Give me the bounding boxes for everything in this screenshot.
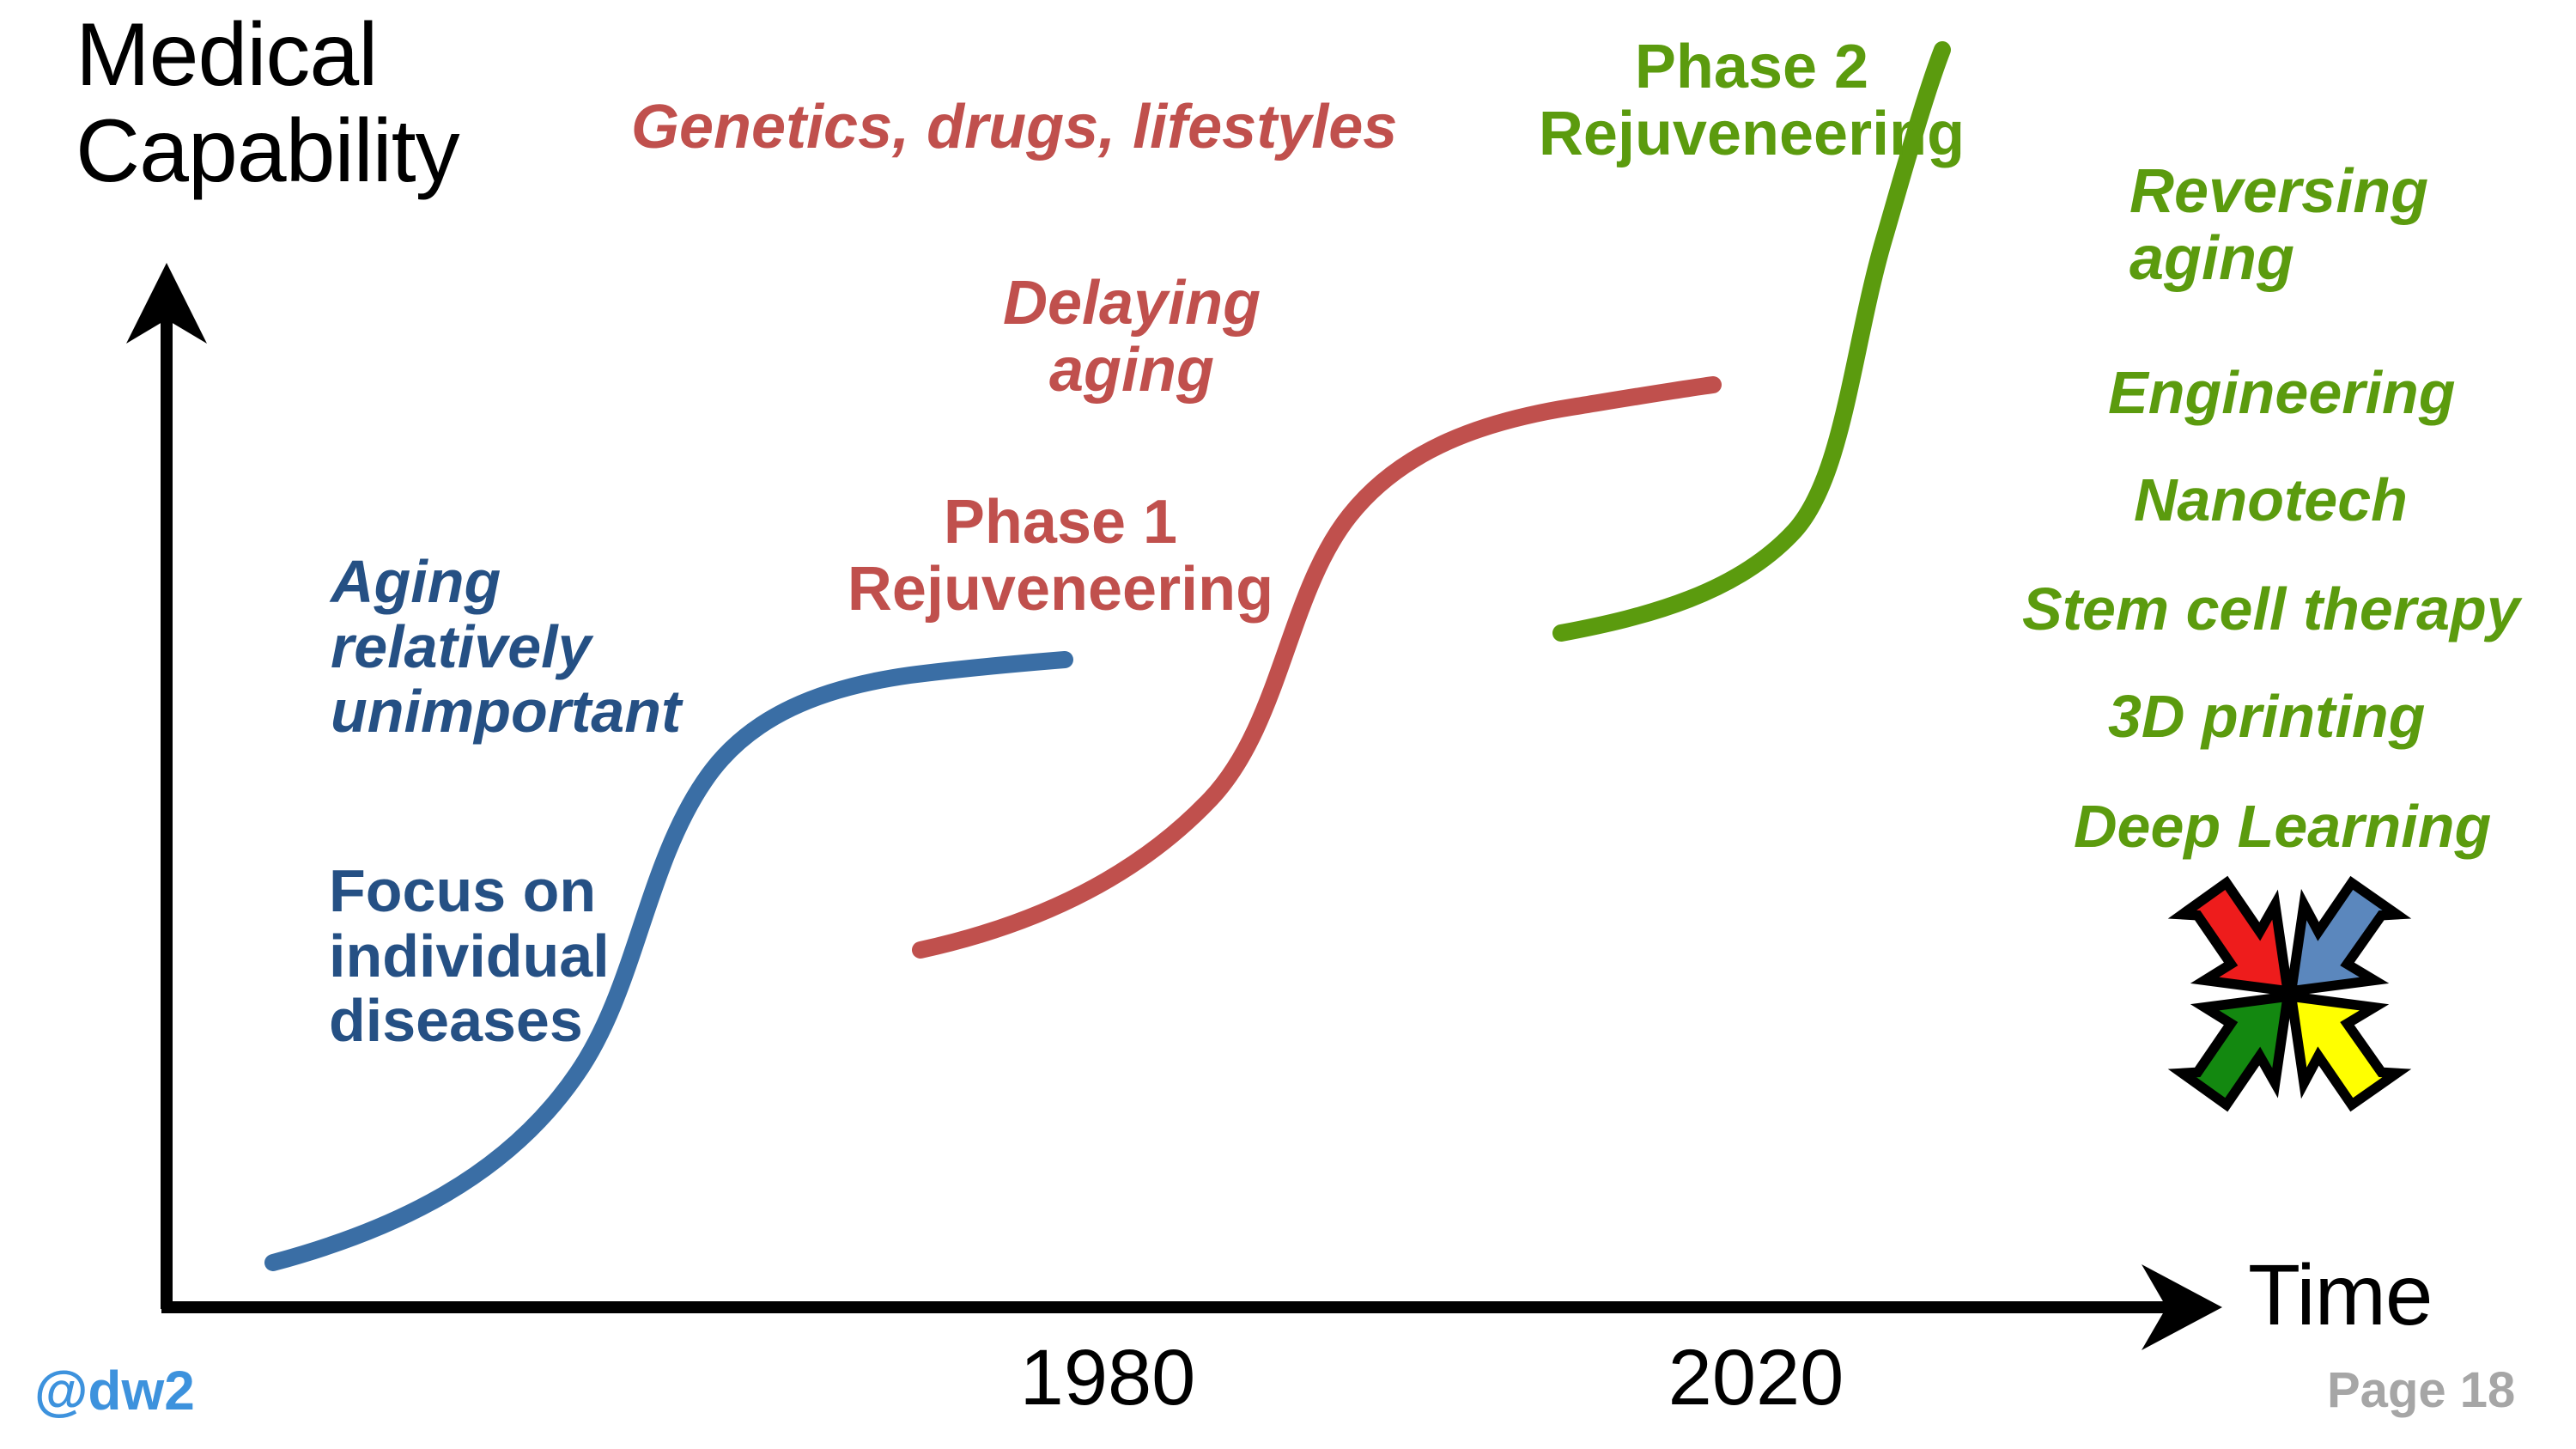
arrow-bottom-right-yellow <box>2291 996 2397 1105</box>
callout-nanotech: Nanotech <box>2134 468 2408 533</box>
page-number: Page 18 <box>2327 1364 2515 1418</box>
callout-stem-cell-therapy: Stem cell therapy <box>2022 577 2520 642</box>
arrow-bottom-left-green <box>2182 996 2287 1105</box>
twitter-handle-watermark: @dw2 <box>34 1361 195 1421</box>
callout-genetics-drugs-lifestyles: Genetics, drugs, lifestyles <box>631 94 1397 161</box>
callout-focus-on-individual-diseases: Focus on individual diseases <box>329 859 610 1054</box>
callout-3d-printing: 3D printing <box>2108 685 2425 750</box>
x-axis-title: Time <box>2248 1249 2433 1342</box>
y-axis-title: Medical Capability <box>76 7 459 200</box>
callout-reversing-aging: Reversing aging <box>2129 159 2428 293</box>
callout-engineering: Engineering <box>2108 361 2455 426</box>
arrow-top-right-blue <box>2291 883 2397 991</box>
x-tick-label-1980: 1980 <box>979 1336 1236 1421</box>
callout-delaying-aging: Delaying aging <box>960 271 1303 405</box>
x-tick-label-2020: 2020 <box>1627 1336 1885 1421</box>
callout-aging-relatively-unimportant: Aging relatively unimportant <box>331 550 681 745</box>
callout-phase-1-rejuveneering: Phase 1 Rejuveneering <box>846 490 1275 624</box>
arrow-top-left-red <box>2182 883 2287 991</box>
callout-phase-2-rejuveneering: Phase 2 Rejuveneering <box>1511 34 1992 168</box>
callout-deep-learning: Deep Learning <box>2074 795 2491 860</box>
slide-canvas: Medical Capability Time 1980 2020 Geneti… <box>0 0 2576 1449</box>
